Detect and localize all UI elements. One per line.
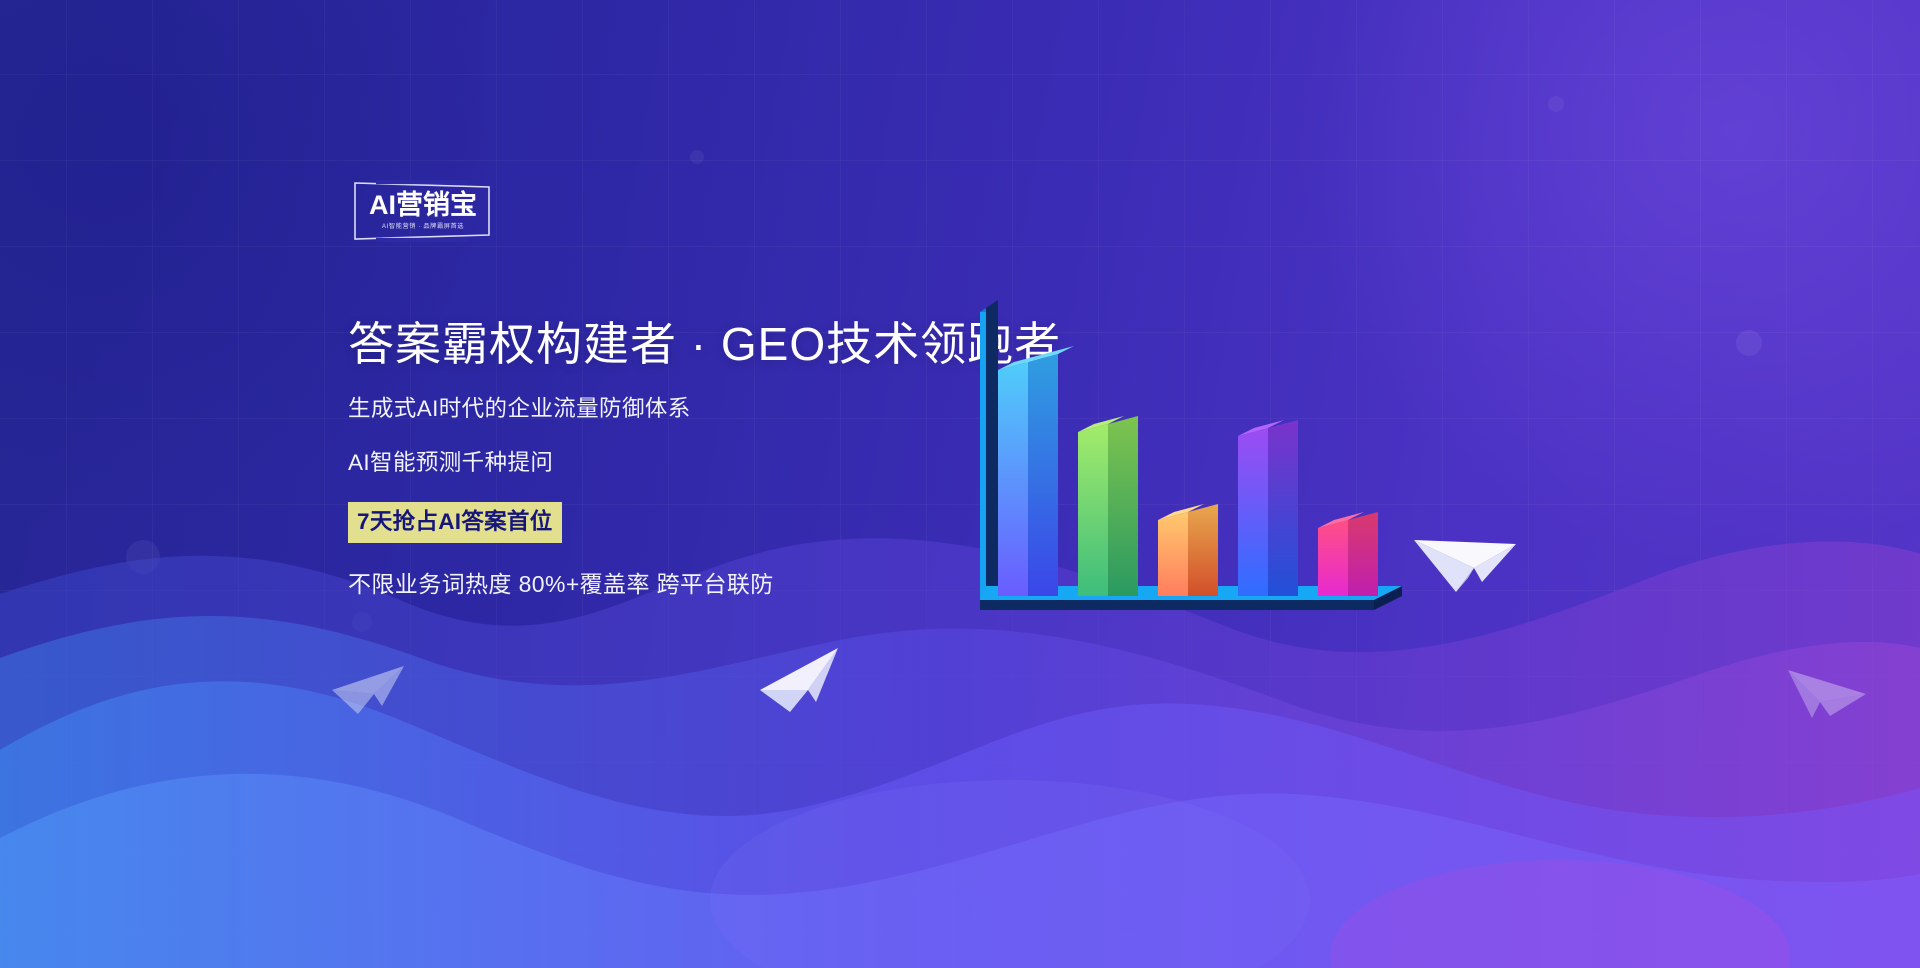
paper-plane-icon (330, 660, 406, 718)
paper-plane-icon (756, 646, 842, 716)
hero-banner: AI营销宝 AI智能营销 · 品牌霸屏首选 答案霸权构建者 · GEO技术领跑者… (0, 0, 1920, 968)
brand-logo[interactable]: AI营销宝 AI智能营销 · 品牌霸屏首选 (352, 180, 492, 242)
logo-tagline: AI智能营销 · 品牌霸屏首选 (362, 221, 484, 230)
decor-circle (690, 150, 704, 164)
logo-wordmark: AI营销宝 (365, 190, 481, 220)
hero-highlight-badge: 7天抢占AI答案首位 (348, 502, 562, 543)
paper-plane-icon (1412, 516, 1518, 594)
paper-plane-icon (1786, 660, 1868, 722)
decor-circle (1548, 96, 1564, 112)
decor-circle (1736, 330, 1762, 356)
bar-chart-illustration (978, 296, 1450, 664)
